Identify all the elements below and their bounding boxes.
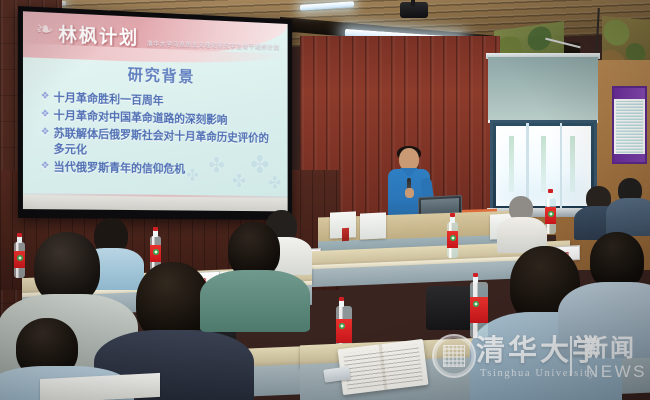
projector-mount — [411, 0, 415, 6]
slide-footer-band — [23, 195, 288, 211]
slide-brand-subtitle: 清华大学马克思主义理论研究学生骨干培养计划 — [147, 38, 280, 51]
water-bottle — [470, 282, 488, 338]
poster-text-block — [616, 101, 643, 153]
speaker-hand — [405, 188, 414, 198]
audience-member — [612, 178, 650, 234]
maple-leaf-icon: ❧ — [33, 18, 57, 43]
lecture-hall-photo: ❧ 林枫计划 清华大学马克思主义理论研究学生骨干培养计划 研究背景 ❖ 十月革命… — [0, 0, 650, 400]
roller-blind[interactable] — [488, 57, 598, 123]
audience-member-foreground — [570, 232, 650, 352]
poster-footer-band — [614, 154, 645, 162]
wall-notice-poster — [612, 86, 647, 164]
bullet-marker-icon: ❖ — [41, 158, 50, 174]
slide-body: 研究背景 ❖ 十月革命胜利一百周年 ❖ 十月革命对中国革命道路的深刻影响 ❖ 苏… — [23, 49, 288, 178]
slide-bullet-text: 苏联解体后俄罗斯社会对十月革命历史评价的多元化 — [53, 125, 278, 162]
red-book — [342, 228, 349, 241]
audience-member-foreground — [210, 222, 296, 326]
window-glass — [496, 126, 591, 206]
slide-surface: ❧ 林枫计划 清华大学马克思主义理论研究学生骨干培养计划 研究背景 ❖ 十月革命… — [23, 11, 288, 211]
bullet-marker-icon: ❖ — [41, 124, 50, 140]
slide-bullet-item: ❖ 当代俄罗斯青年的信仰危机 — [41, 158, 279, 178]
bullet-marker-icon: ❖ — [41, 89, 50, 105]
speaker-head — [399, 148, 419, 171]
slide-title: 研究背景 — [39, 58, 279, 90]
bullet-marker-icon: ❖ — [41, 106, 50, 122]
slide-brand-title: 林枫计划 — [58, 20, 139, 50]
poster-header-band — [614, 88, 645, 99]
slide-bullet-item: ❖ 苏联解体后俄罗斯社会对十月革命历史评价的多元化 — [41, 124, 279, 161]
water-bottle — [447, 222, 458, 258]
audience-member — [500, 196, 542, 252]
projection-screen: ❧ 林枫计划 清华大学马克思主义理论研究学生骨干培养计划 研究背景 ❖ 十月革命… — [18, 6, 292, 220]
slide-bullet-list: ❖ 十月革命胜利一百周年 ❖ 十月革命对中国革命道路的深刻影响 ❖ 苏联解体后俄… — [35, 89, 279, 179]
tent-card — [360, 212, 386, 239]
slide-bullet-text: 当代俄罗斯青年的信仰危机 — [53, 158, 185, 176]
slide-bullet-text: 十月革命胜利一百周年 — [53, 89, 163, 108]
